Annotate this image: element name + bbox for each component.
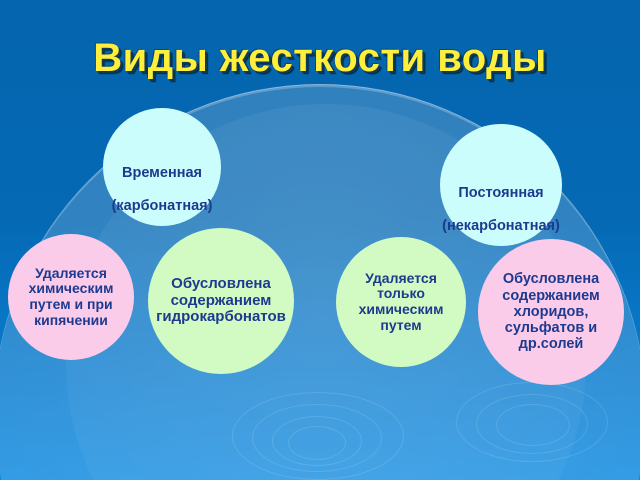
water-ripple-ring-6 — [476, 394, 588, 454]
bubble-permanent-removal-label: Удаляется только химическим путем — [336, 271, 466, 334]
bubble-permanent-hardness-title-label: Постоянная (некарбонатная) — [430, 185, 572, 234]
bubble-temporary-removal-label: Удаляется химическим путем и при кипячен… — [8, 266, 134, 329]
page-title: Виды жесткости воды — [0, 36, 640, 81]
bubble-permanent-cause-label: Обусловлена содержанием хлоридов, сульфа… — [478, 271, 624, 352]
bubble-temporary-hardness-title[interactable]: Временная (карбонатная) — [103, 108, 221, 226]
slide-canvas: Виды жесткости воды Временная (карбонатн… — [0, 0, 640, 480]
bubble-temporary-hardness-title-label: Временная (карбонатная) — [100, 165, 225, 214]
water-ripple-ring-4 — [288, 426, 346, 460]
bubble-temporary-title-line2: (карбонатная) — [106, 198, 219, 214]
bubble-temporary-title-line1: Временная — [106, 165, 219, 181]
water-ripple-ring-3 — [272, 416, 362, 466]
water-ripple-ring-5 — [456, 382, 608, 462]
bubble-permanent-hardness-removal[interactable]: Удаляется только химическим путем — [336, 237, 466, 367]
water-ripple-ring-7 — [496, 404, 570, 446]
water-ripple-ring-2 — [252, 404, 382, 472]
bubble-permanent-title-line1: Постоянная — [436, 185, 566, 201]
bubble-permanent-title-line2: (некарбонатная) — [436, 218, 566, 234]
bubble-temporary-cause-label: Обусловлена содержанием гидрокарбонатов — [148, 276, 294, 326]
bubble-temporary-hardness-cause[interactable]: Обусловлена содержанием гидрокарбонатов — [148, 228, 294, 374]
bubble-temporary-hardness-removal[interactable]: Удаляется химическим путем и при кипячен… — [8, 234, 134, 360]
bubble-permanent-hardness-title[interactable]: Постоянная (некарбонатная) — [440, 124, 562, 246]
bubble-permanent-hardness-cause[interactable]: Обусловлена содержанием хлоридов, сульфа… — [478, 239, 624, 385]
water-ripple-ring-1 — [232, 392, 404, 480]
